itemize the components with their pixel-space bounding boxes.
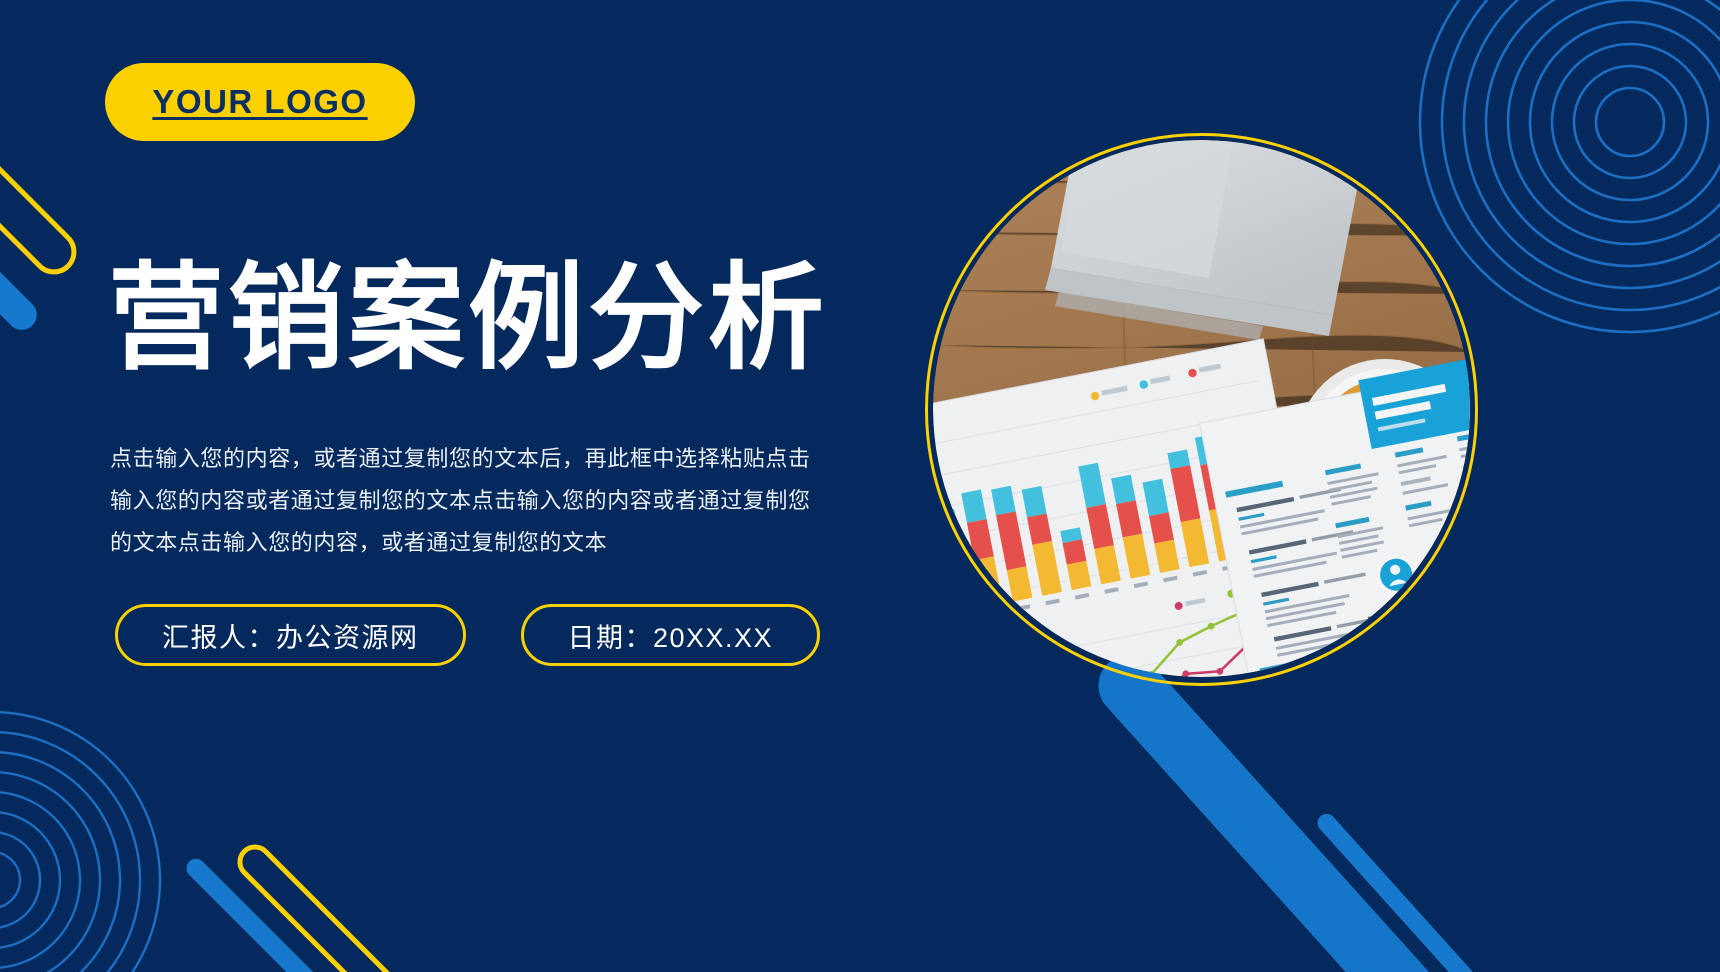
body-line-2: 输入您的内容或者通过复制您的文本点击输入您的内容或者通过复制您 bbox=[110, 480, 870, 522]
date-pill[interactable]: 日期：20XX.XX bbox=[521, 604, 821, 666]
presenter-pill[interactable]: 汇报人：办公资源网 bbox=[115, 604, 466, 666]
page-title: 营销案例分析 bbox=[108, 256, 828, 381]
meta-row: 汇报人：办公资源网 日期：20XX.XX bbox=[115, 604, 820, 666]
bottom-right-thick-blue-stripe-icon bbox=[1086, 642, 1641, 972]
bottom-left-blue-stripe-icon bbox=[183, 855, 327, 972]
bottom-left-yellow-stripe-icon bbox=[234, 841, 407, 972]
logo-badge[interactable]: YOUR LOGO bbox=[105, 63, 415, 141]
body-paragraph: 点击输入您的内容，或者通过复制您的文本后，再此框中选择粘贴点击 输入您的内容或者… bbox=[110, 438, 870, 564]
top-right-rings-icon bbox=[1420, 0, 1720, 332]
body-line-3: 的文本点击输入您的内容，或者通过复制您的文本 bbox=[110, 522, 870, 564]
presenter-label: 汇报人：办公资源网 bbox=[162, 616, 419, 655]
hero-photo bbox=[933, 140, 1470, 677]
presentation-slide: YOUR LOGO 营销案例分析 点击输入您的内容，或者通过复制您的文本后，再此… bbox=[0, 0, 1720, 972]
date-label: 日期：20XX.XX bbox=[568, 616, 774, 655]
logo-text: YOUR LOGO bbox=[152, 83, 367, 121]
bottom-left-rings-icon bbox=[0, 712, 160, 972]
top-left-yellow-stripe-icon bbox=[0, 40, 82, 280]
body-line-1: 点击输入您的内容，或者通过复制您的文本后，再此框中选择粘贴点击 bbox=[110, 438, 870, 480]
